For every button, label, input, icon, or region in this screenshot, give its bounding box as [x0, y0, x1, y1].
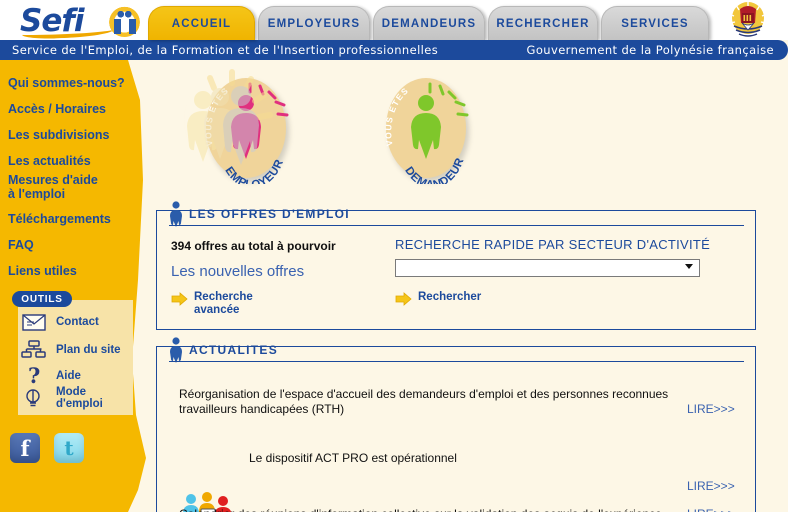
- new-offers-link[interactable]: Les nouvelles offres: [171, 263, 304, 280]
- person-icon: [169, 201, 183, 227]
- facebook-glyph: f: [20, 436, 29, 461]
- tab-label: RECHERCHER: [496, 18, 589, 30]
- offers-count: 394 offres au total à pourvoir: [171, 239, 336, 253]
- person-silhouette-icon: [408, 94, 444, 160]
- news-title[interactable]: Le dispositif ACT PRO est opérationnel: [249, 451, 669, 466]
- badges-row: VOUS ETES EMPLOYEUR: [148, 60, 788, 200]
- twitter-icon[interactable]: t: [54, 433, 84, 463]
- arrow-right-icon: [171, 292, 188, 307]
- sitemap-icon: [20, 338, 48, 362]
- site-logo[interactable]: Sefi: [8, 0, 148, 40]
- tool-label: Contact: [56, 316, 99, 328]
- badge-demandeur[interactable]: VOUS ETES DEMANDEUR: [378, 72, 474, 184]
- svg-text:?: ?: [28, 364, 40, 388]
- logo-swoosh-decor: [22, 24, 114, 39]
- tagline-right: Gouvernement de la Polynésie française: [527, 43, 774, 57]
- sidebar-item-actualites[interactable]: Les actualités: [8, 154, 91, 168]
- news-read-more[interactable]: LIRE>>>: [687, 479, 735, 493]
- tab-label: SERVICES: [621, 18, 689, 30]
- tab-label: DEMANDEURS: [382, 18, 476, 30]
- tab-label: EMPLOYEURS: [268, 18, 361, 30]
- tool-contact[interactable]: Contact: [20, 310, 99, 334]
- sidebar-item-liens-utiles[interactable]: Liens utiles: [8, 264, 77, 278]
- offers-section-rule: [169, 225, 744, 226]
- tab-demandeurs[interactable]: DEMANDEURS: [373, 6, 485, 40]
- news-title[interactable]: Calendrier des réunions d'information co…: [179, 507, 679, 512]
- arrow-right-icon: [395, 292, 412, 307]
- news-section-header: ACTUALITES: [169, 337, 278, 363]
- tool-mode-demploi[interactable]: Mode d'emploi: [20, 386, 103, 410]
- facebook-icon[interactable]: f: [10, 433, 40, 463]
- tools-title-pill: OUTILS: [12, 291, 72, 307]
- tool-label: Plan du site: [56, 344, 121, 356]
- news-panel: ACTUALITES Réorganisation de l'espace d'…: [156, 346, 756, 512]
- envelope-icon: [20, 310, 48, 334]
- offers-panel: LES OFFRES D'EMPLOI 394 offres au total …: [156, 210, 756, 330]
- site-header: Sefi ACCUEIL EMPLOYEURS DEMANDEURS RECHE…: [0, 0, 788, 40]
- tagline-left: Service de l'Emploi, de la Formation et …: [12, 43, 438, 57]
- french-polynesia-coat-of-arms-icon: [722, 1, 774, 39]
- sun-people-icon: [108, 4, 141, 37]
- tab-accueil[interactable]: ACCUEIL: [148, 6, 255, 40]
- person-icon: [169, 337, 183, 363]
- sidebar-item-telechargements[interactable]: Téléchargements: [8, 212, 111, 226]
- tagline-bar: Service de l'Emploi, de la Formation et …: [0, 40, 788, 60]
- tab-label: ACCUEIL: [172, 18, 232, 30]
- tool-plan-du-site[interactable]: Plan du site: [20, 338, 121, 362]
- people-group-decor-icon: [148, 60, 318, 180]
- news-section-title: ACTUALITES: [189, 343, 278, 357]
- page-root: Sefi ACCUEIL EMPLOYEURS DEMANDEURS RECHE…: [0, 0, 788, 512]
- tool-label: Aide: [56, 370, 81, 382]
- offers-section-header: LES OFFRES D'EMPLOI: [169, 201, 350, 227]
- sidebar-item-qui-sommes-nous[interactable]: Qui sommes-nous?: [8, 76, 125, 90]
- news-section-rule: [169, 361, 744, 362]
- sector-select[interactable]: [395, 259, 700, 277]
- quick-search-label: RECHERCHE RAPIDE PAR SECTEUR D'ACTIVITÉ: [395, 237, 710, 252]
- sidebar-item-acces-horaires[interactable]: Accès / Horaires: [8, 102, 106, 116]
- offers-section-title: LES OFFRES D'EMPLOI: [189, 207, 350, 221]
- news-read-more[interactable]: LIRE>>>: [687, 402, 735, 416]
- sidebar-item-mesures-aide[interactable]: Mesures d'aide à l'emploi: [8, 173, 98, 201]
- search-button-label: Rechercher: [418, 291, 481, 304]
- news-title[interactable]: Réorganisation de l'espace d'accueil des…: [179, 387, 669, 417]
- search-button[interactable]: Rechercher: [395, 291, 481, 307]
- news-read-more[interactable]: LIRE>>>: [687, 507, 735, 512]
- question-mark-icon: ?: [20, 364, 48, 388]
- tool-label: Mode d'emploi: [56, 386, 103, 410]
- tool-aide[interactable]: ? Aide: [20, 364, 81, 388]
- sidebar-item-subdivisions[interactable]: Les subdivisions: [8, 128, 109, 142]
- lightbulb-icon: [20, 386, 48, 410]
- main-content: VOUS ETES EMPLOYEUR: [148, 60, 788, 512]
- advanced-search-link[interactable]: Recherche avancée: [171, 291, 253, 317]
- advanced-search-label: Recherche avancée: [194, 291, 253, 317]
- tab-services[interactable]: SERVICES: [601, 6, 709, 40]
- tab-employeurs[interactable]: EMPLOYEURS: [258, 6, 370, 40]
- sidebar-item-faq[interactable]: FAQ: [8, 238, 34, 252]
- twitter-glyph: t: [64, 436, 73, 460]
- tab-rechercher[interactable]: RECHERCHER: [488, 6, 598, 40]
